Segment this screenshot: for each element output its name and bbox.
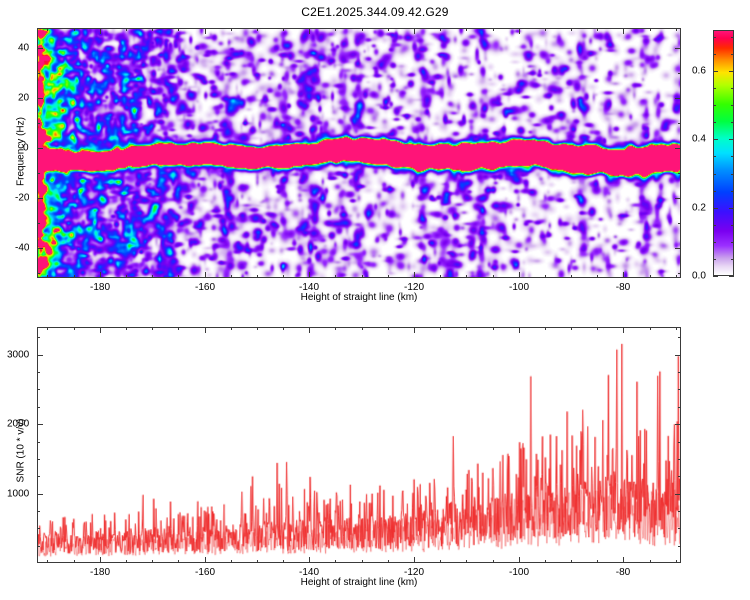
tick-mark <box>713 156 716 157</box>
spectrogram-panel[interactable] <box>37 28 681 278</box>
tick-mark <box>678 123 681 124</box>
tick-mark <box>678 372 681 373</box>
tick-mark <box>571 275 572 278</box>
tick-mark <box>231 28 232 31</box>
tick-mark <box>571 560 572 563</box>
snr-panel[interactable] <box>37 327 681 563</box>
colorbar[interactable] <box>713 30 734 276</box>
tick-mark <box>713 225 716 226</box>
tick-mark <box>362 28 363 31</box>
tick-mark <box>678 273 681 274</box>
tick-mark <box>414 557 415 563</box>
tick-mark <box>545 560 546 563</box>
tick-mark <box>571 327 572 330</box>
tick-mark <box>37 148 43 149</box>
tick-mark <box>309 272 310 278</box>
tick-mark <box>675 198 681 199</box>
tick-mark <box>152 327 153 330</box>
tick-mark <box>493 28 494 31</box>
tick-mark <box>466 560 467 563</box>
tick-label: -80 <box>616 282 630 293</box>
tick-mark <box>388 28 389 31</box>
tick-mark <box>309 557 310 563</box>
tick-label: -80 <box>616 567 630 578</box>
tick-mark <box>37 273 40 274</box>
tick-mark <box>74 275 75 278</box>
tick-mark <box>388 560 389 563</box>
tick-mark <box>100 28 101 34</box>
tick-mark <box>519 557 520 563</box>
tick-mark <box>713 54 716 55</box>
tick-mark <box>37 424 43 425</box>
tick-mark <box>283 28 284 31</box>
tick-mark <box>493 327 494 330</box>
tick-mark <box>713 276 718 277</box>
tick-mark <box>713 71 718 72</box>
tick-mark <box>283 275 284 278</box>
tick-mark <box>257 275 258 278</box>
tick-mark <box>713 208 718 209</box>
tick-mark <box>678 407 681 408</box>
snr-xlabel: Height of straight line (km) <box>237 577 481 588</box>
tick-label: -40 <box>15 243 29 254</box>
tick-mark <box>257 327 258 330</box>
tick-mark <box>675 494 681 495</box>
tick-mark <box>678 389 681 390</box>
spectrogram-ylabel: Frequency (Hz) <box>16 92 27 212</box>
tick-mark <box>675 98 681 99</box>
tick-mark <box>623 327 624 333</box>
tick-mark <box>283 327 284 330</box>
tick-mark <box>414 327 415 333</box>
tick-mark <box>623 557 624 563</box>
tick-mark <box>100 557 101 563</box>
tick-mark <box>126 560 127 563</box>
tick-mark <box>47 275 48 278</box>
tick-mark <box>126 327 127 330</box>
tick-mark <box>713 122 716 123</box>
tick-mark <box>37 494 43 495</box>
tick-mark <box>519 327 520 333</box>
snr-canvas[interactable] <box>38 328 680 562</box>
tick-mark <box>152 28 153 31</box>
tick-mark <box>309 327 310 333</box>
tick-mark <box>257 28 258 31</box>
tick-mark <box>335 275 336 278</box>
tick-mark <box>731 242 734 243</box>
tick-mark <box>623 272 624 278</box>
tick-mark <box>231 560 232 563</box>
tick-label: -160 <box>195 567 215 578</box>
tick-mark <box>37 337 40 338</box>
tick-label: 0.4 <box>692 134 706 145</box>
tick-mark <box>713 139 718 140</box>
tick-mark <box>47 28 48 31</box>
tick-mark <box>126 275 127 278</box>
tick-mark <box>37 173 40 174</box>
tick-label: 0.6 <box>692 66 706 77</box>
tick-mark <box>678 459 681 460</box>
tick-mark <box>466 28 467 31</box>
tick-label: 40 <box>18 43 29 54</box>
tick-mark <box>678 528 681 529</box>
tick-mark <box>731 225 734 226</box>
tick-mark <box>47 560 48 563</box>
tick-mark <box>713 191 716 192</box>
tick-mark <box>152 275 153 278</box>
tick-mark <box>152 560 153 563</box>
tick-label: -160 <box>195 282 215 293</box>
tick-mark <box>545 28 546 31</box>
tick-mark <box>37 389 40 390</box>
figure-title: C2E1.2025.344.09.42.G29 <box>0 5 750 19</box>
tick-mark <box>650 275 651 278</box>
tick-mark <box>678 223 681 224</box>
tick-mark <box>678 511 681 512</box>
tick-mark <box>74 327 75 330</box>
tick-label: -180 <box>90 567 110 578</box>
spectrogram-xlabel: Height of straight line (km) <box>237 292 481 303</box>
tick-mark <box>37 248 43 249</box>
tick-mark <box>650 327 651 330</box>
tick-mark <box>676 327 677 330</box>
tick-mark <box>440 327 441 330</box>
tick-mark <box>178 560 179 563</box>
tick-mark <box>466 327 467 330</box>
tick-mark <box>713 37 716 38</box>
tick-mark <box>388 327 389 330</box>
tick-mark <box>309 28 310 34</box>
tick-mark <box>37 459 40 460</box>
tick-label: 0.2 <box>692 203 706 214</box>
tick-mark <box>414 272 415 278</box>
tick-mark <box>713 88 716 89</box>
spectrogram-canvas[interactable] <box>38 29 680 277</box>
tick-mark <box>678 476 681 477</box>
tick-mark <box>205 272 206 278</box>
tick-mark <box>37 48 43 49</box>
tick-mark <box>675 248 681 249</box>
tick-mark <box>678 337 681 338</box>
tick-mark <box>37 476 40 477</box>
tick-mark <box>257 560 258 563</box>
tick-mark <box>414 28 415 34</box>
tick-mark <box>283 560 284 563</box>
tick-mark <box>100 272 101 278</box>
tick-mark <box>571 28 572 31</box>
tick-mark <box>362 560 363 563</box>
tick-mark <box>37 372 40 373</box>
tick-mark <box>713 105 716 106</box>
tick-mark <box>597 275 598 278</box>
tick-mark <box>388 275 389 278</box>
tick-mark <box>362 275 363 278</box>
colorbar-gradient <box>714 31 733 275</box>
tick-mark <box>597 560 598 563</box>
tick-mark <box>37 528 40 529</box>
tick-mark <box>335 28 336 31</box>
tick-mark <box>37 442 40 443</box>
tick-mark <box>675 355 681 356</box>
tick-mark <box>676 560 677 563</box>
tick-mark <box>678 546 681 547</box>
tick-mark <box>493 275 494 278</box>
tick-mark <box>74 28 75 31</box>
tick-mark <box>675 48 681 49</box>
tick-mark <box>597 28 598 31</box>
figure-root: C2E1.2025.344.09.42.G29 -180-160-140-120… <box>0 0 750 600</box>
tick-mark <box>440 560 441 563</box>
tick-mark <box>731 156 734 157</box>
tick-mark <box>205 327 206 333</box>
tick-mark <box>178 28 179 31</box>
tick-mark <box>729 208 734 209</box>
tick-mark <box>519 272 520 278</box>
tick-label: -100 <box>509 282 529 293</box>
tick-mark <box>675 424 681 425</box>
tick-mark <box>37 546 40 547</box>
tick-mark <box>362 327 363 330</box>
tick-mark <box>205 28 206 34</box>
tick-mark <box>731 122 734 123</box>
tick-label: -100 <box>509 567 529 578</box>
tick-mark <box>231 275 232 278</box>
snr-ylabel: SNR (10 * v/v) <box>16 391 27 511</box>
tick-mark <box>205 557 206 563</box>
tick-mark <box>47 327 48 330</box>
tick-mark <box>37 98 43 99</box>
tick-mark <box>729 276 734 277</box>
tick-mark <box>678 442 681 443</box>
tick-mark <box>37 73 40 74</box>
tick-mark <box>731 174 734 175</box>
tick-label: 0.0 <box>692 271 706 282</box>
tick-mark <box>440 28 441 31</box>
tick-mark <box>731 54 734 55</box>
tick-mark <box>126 28 127 31</box>
tick-mark <box>675 148 681 149</box>
tick-mark <box>731 105 734 106</box>
tick-mark <box>37 511 40 512</box>
tick-mark <box>729 71 734 72</box>
tick-mark <box>731 259 734 260</box>
tick-mark <box>597 327 598 330</box>
tick-mark <box>37 407 40 408</box>
tick-mark <box>37 223 40 224</box>
tick-mark <box>37 123 40 124</box>
tick-mark <box>440 275 441 278</box>
tick-mark <box>100 327 101 333</box>
tick-mark <box>545 327 546 330</box>
tick-mark <box>545 275 546 278</box>
tick-mark <box>731 191 734 192</box>
tick-mark <box>623 28 624 34</box>
tick-mark <box>493 560 494 563</box>
tick-mark <box>678 73 681 74</box>
tick-mark <box>335 327 336 330</box>
tick-mark <box>713 242 716 243</box>
tick-mark <box>650 28 651 31</box>
tick-mark <box>676 28 677 31</box>
tick-label: -180 <box>90 282 110 293</box>
tick-mark <box>37 198 43 199</box>
tick-mark <box>74 560 75 563</box>
tick-mark <box>678 173 681 174</box>
tick-mark <box>335 560 336 563</box>
tick-mark <box>713 259 716 260</box>
tick-mark <box>729 139 734 140</box>
tick-mark <box>731 88 734 89</box>
tick-mark <box>650 560 651 563</box>
tick-mark <box>178 275 179 278</box>
tick-mark <box>519 28 520 34</box>
tick-mark <box>37 355 43 356</box>
tick-mark <box>231 327 232 330</box>
tick-mark <box>466 275 467 278</box>
tick-mark <box>676 275 677 278</box>
tick-mark <box>713 174 716 175</box>
tick-mark <box>731 37 734 38</box>
tick-label: 3000 <box>7 350 29 361</box>
tick-mark <box>178 327 179 330</box>
